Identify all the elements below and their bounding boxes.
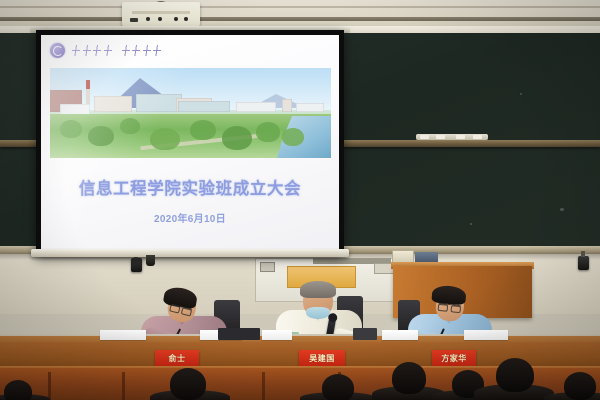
photo-tree xyxy=(282,128,304,146)
photo-tree xyxy=(222,126,252,150)
center-person-hair xyxy=(300,281,336,298)
chalk-piece xyxy=(456,135,465,139)
wall-speaker-left xyxy=(131,258,142,272)
slide-title: 信息工程学院实验班成立大会 xyxy=(41,175,339,199)
audience-head xyxy=(392,362,426,394)
photo-tree xyxy=(190,120,216,140)
documents xyxy=(464,330,508,340)
slide-motto-calligraphy xyxy=(72,45,161,56)
screen-bottom-bar xyxy=(31,249,349,257)
documents xyxy=(100,330,146,340)
ceiling-seam xyxy=(0,6,600,8)
chalk-piece xyxy=(473,135,482,139)
photo-building xyxy=(282,99,292,112)
projector-lens-icon xyxy=(130,18,138,22)
chalk-piece xyxy=(420,135,429,139)
photo-building xyxy=(94,96,132,112)
audience-head xyxy=(322,374,354,400)
projector-indicator xyxy=(184,17,188,21)
audience-head xyxy=(564,372,596,400)
projector-indicator xyxy=(174,17,178,21)
nameplate-left: 俞士 xyxy=(155,350,199,367)
nameplate-center-text: 吴建国 xyxy=(309,353,335,364)
documents xyxy=(262,330,292,340)
notice-tag xyxy=(260,262,275,272)
ceiling-beam xyxy=(0,17,600,21)
photo-tree xyxy=(120,118,140,134)
folder xyxy=(218,328,260,340)
nameplate-right: 方家华 xyxy=(432,350,476,367)
photo-tree xyxy=(88,126,114,146)
folder xyxy=(353,328,377,340)
projector-vent xyxy=(132,11,190,14)
screen-pull-handle[interactable] xyxy=(146,255,155,266)
photo-building xyxy=(178,101,230,112)
chalk-speck xyxy=(520,93,522,95)
audience-head xyxy=(496,358,534,392)
photo-tree xyxy=(256,122,280,142)
bench-divider xyxy=(122,372,125,400)
photo-building xyxy=(236,102,276,112)
wall-speaker-right xyxy=(578,256,589,270)
audience-head xyxy=(170,368,206,400)
chalk-piece xyxy=(436,135,445,139)
photo-tree xyxy=(60,120,82,138)
nameplate-center: 吴建国 xyxy=(299,350,345,367)
projector-indicator xyxy=(146,17,150,21)
bench-divider xyxy=(48,372,51,400)
documents xyxy=(382,330,418,340)
slide-header xyxy=(41,35,339,65)
nameplate-left-text: 俞士 xyxy=(169,353,186,364)
photo-building xyxy=(296,103,324,112)
campus-aerial-photo xyxy=(50,68,331,158)
center-person-face-mask xyxy=(306,307,330,319)
audience-head xyxy=(4,380,32,400)
slide-date: 2020年6月10日 xyxy=(41,210,339,225)
ceiling-projector xyxy=(122,2,200,26)
projector-indicator xyxy=(158,17,162,21)
bench-divider xyxy=(262,372,265,400)
university-emblem-icon xyxy=(50,43,65,58)
classroom-meeting-photo: 信息工程学院实验班成立大会 2020年6月10日 xyxy=(0,0,600,400)
chalk-speck xyxy=(560,208,564,211)
right-person-glasses-icon xyxy=(438,303,462,311)
presentation-slide: 信息工程学院实验班成立大会 2020年6月10日 xyxy=(41,35,339,251)
photo-tree xyxy=(150,128,180,150)
nameplate-right-text: 方家华 xyxy=(441,353,467,364)
chalk-speck xyxy=(470,223,472,225)
